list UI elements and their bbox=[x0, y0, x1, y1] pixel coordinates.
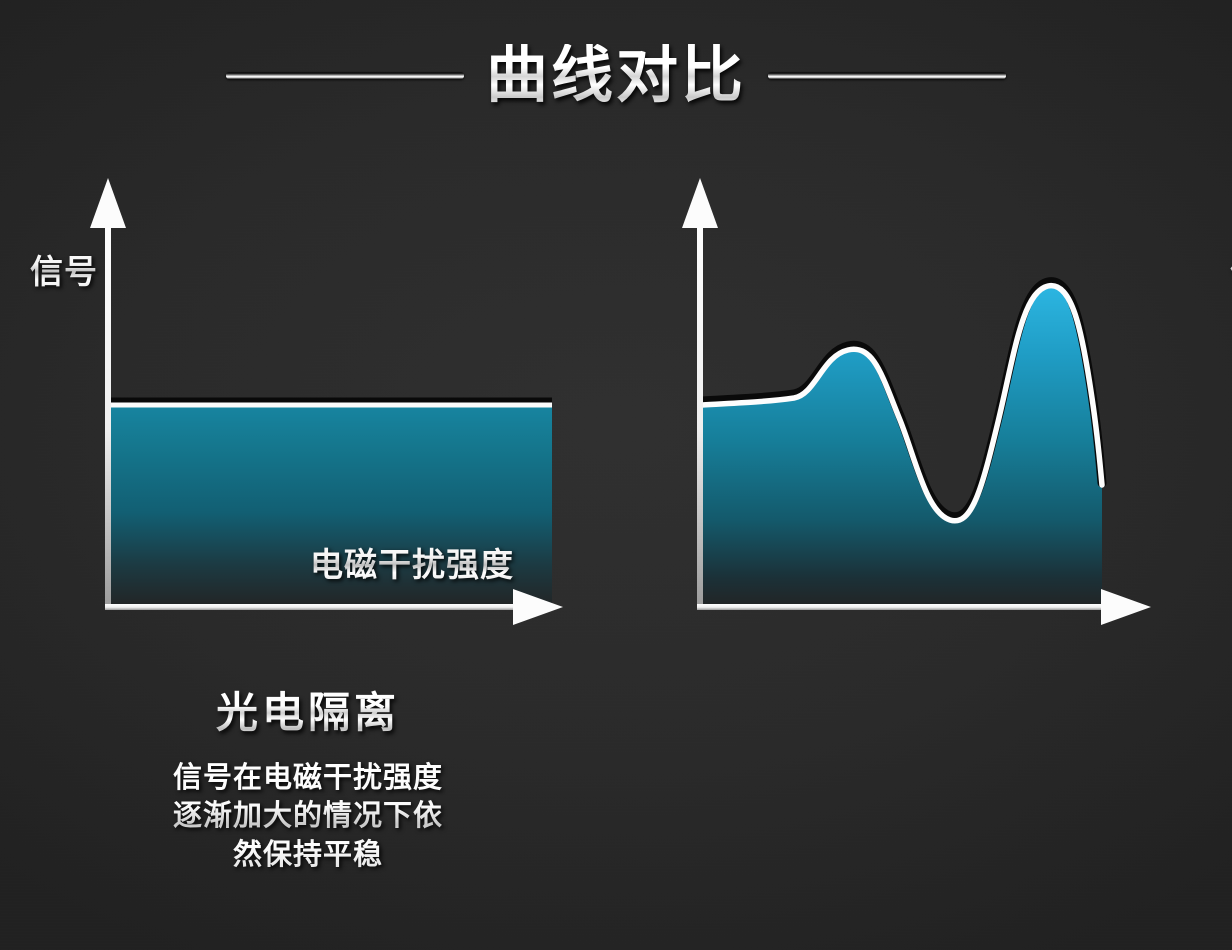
caption-optical-isolation: 光电隔离 信号在电磁干扰强度 逐渐加大的情况下依 然保持平稳 bbox=[0, 690, 616, 873]
chart-magnetic-isolation bbox=[616, 170, 1232, 630]
chart-optical-isolation bbox=[0, 170, 616, 630]
caption-line: 信号在电磁干扰强度 bbox=[0, 758, 616, 796]
panel-magnetic-isolation: 信号 电磁干扰强度 磁电隔离 随着电磁干扰强度的 加大，信号开始剧烈 波动 bbox=[616, 0, 1232, 950]
slide-canvas: 曲线对比 bbox=[0, 0, 1232, 950]
area-fill bbox=[702, 286, 1102, 610]
caption-line: 然保持平稳 bbox=[0, 835, 616, 873]
caption-description: 信号在电磁干扰强度 逐渐加大的情况下依 然保持平稳 bbox=[0, 758, 616, 873]
caption-line: 逐渐加大的情况下依 bbox=[0, 796, 616, 834]
y-axis-label: 信号 bbox=[30, 245, 98, 293]
caption-title: 光电隔离 bbox=[0, 690, 616, 736]
panel-optical-isolation: 信号 电磁干扰强度 光电隔离 信号在电磁干扰强度 逐渐加大的情况下依 然保持平稳 bbox=[0, 0, 616, 950]
x-axis-label: 电磁干扰强度 bbox=[310, 538, 514, 586]
